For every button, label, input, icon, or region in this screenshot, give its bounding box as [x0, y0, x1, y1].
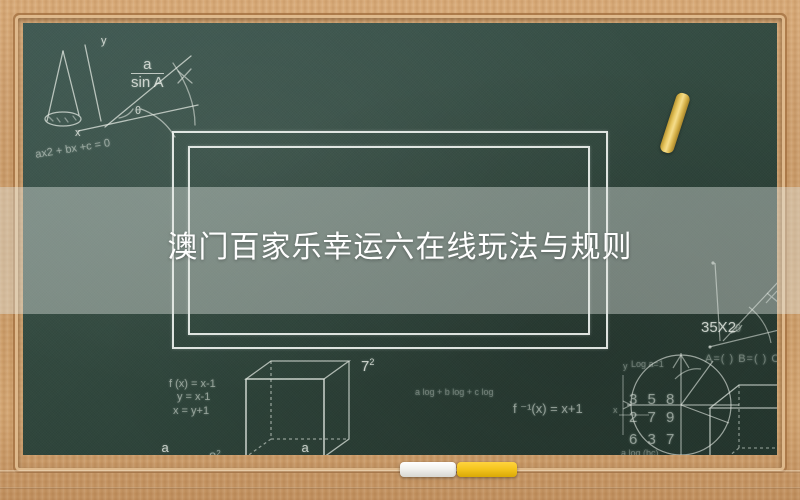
chalk-quadratic-equation: ax2 + bx +c = 0: [35, 137, 111, 161]
chalk-function-y: y = x-1: [177, 391, 210, 403]
chalk-digits-row-3: 6 3 7: [629, 431, 677, 448]
chalk-fraction-denominator: sin A: [131, 73, 164, 91]
chalk-axis-label-x-right: x: [613, 405, 618, 415]
chalk-inverse-function: f ⁻¹(x) = x+1: [513, 401, 583, 417]
chalk-ledge-lower-highlight: [0, 487, 800, 489]
chalk-log-a-equals-1: Log a=1: [631, 359, 664, 369]
chalk-eight-squared: 82: [209, 449, 221, 455]
chalk-fraction3-numerator: a: [291, 441, 319, 455]
chalk-eight-base: 8: [209, 449, 216, 455]
chalk-fraction-a-over-sina: a sin A: [131, 57, 164, 91]
chalk-fraction-a-over-sina-2: a sin A: [151, 441, 179, 455]
chalk-digits-row-2: 2 7 9: [629, 409, 677, 426]
chalk-stick-white-ledge: [400, 462, 456, 477]
chalk-angle-theta-topleft: θ: [135, 105, 141, 117]
chalkboard-banner: a sin A y x θ ax2 + bx +c = 0 θ f (x) = …: [0, 0, 800, 500]
chalk-axis-label-y: y: [101, 35, 107, 47]
chalk-seven-exponent: 2: [369, 357, 374, 367]
chalk-axis-label-x: x: [75, 127, 81, 139]
chalk-axis-label-y-right: y: [623, 361, 628, 371]
chalk-fraction2-numerator: a: [151, 441, 179, 455]
chalk-log-expression: a log + b log + c log: [415, 387, 494, 397]
chalk-seven-squared: 72: [361, 357, 374, 375]
chalk-log-bc: a log (bc): [621, 448, 659, 455]
chalk-function-fx: f (x) = x-1: [169, 377, 216, 391]
chalk-function-x: x = y+1: [173, 405, 209, 417]
chalk-fraction-numerator: a: [131, 57, 164, 73]
chalk-seven-base: 7: [361, 358, 369, 375]
chalk-eight-exponent: 2: [216, 449, 220, 455]
chalk-stick-yellow-ledge: [457, 462, 517, 477]
chalk-angle-theta-right: θ: [735, 323, 741, 335]
chalk-label-35x2: 35X2: [701, 319, 736, 336]
chalk-fraction-a-over-sina-3: a sin A: [291, 441, 319, 455]
chalk-matrix-row: A=( ) B=( ) C=( ): [705, 353, 777, 365]
chalk-digits-row-1: 3 5 8: [629, 391, 677, 408]
page-title: 澳门百家乐幸运六在线玩法与规则: [0, 222, 800, 266]
